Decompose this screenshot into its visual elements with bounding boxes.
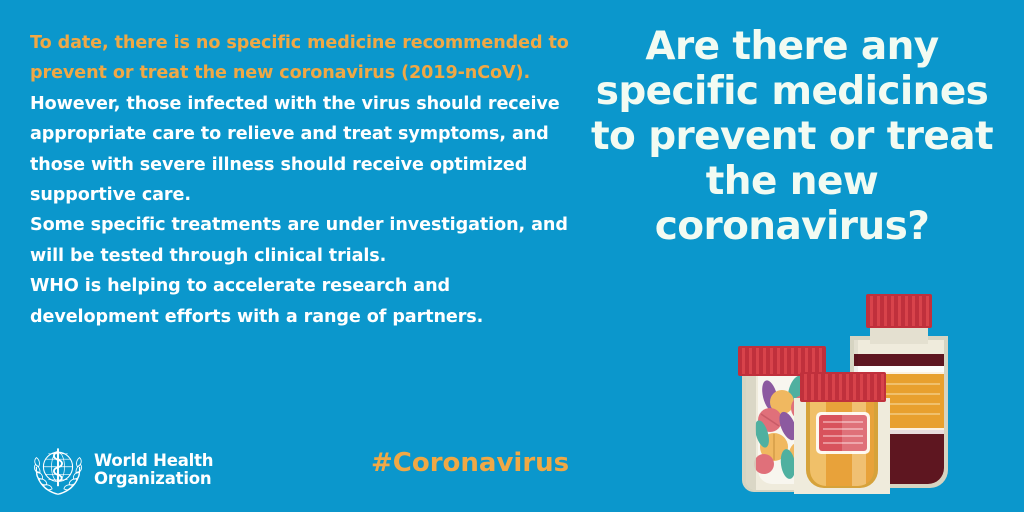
who-coronavirus-infographic: To date, there is no specific medicine r… (0, 0, 1024, 512)
body-text-column: To date, there is no specific medicine r… (30, 28, 570, 332)
who-wordmark: World Health Organization (94, 452, 213, 489)
paragraph-under-investigation: Some specific treatments are under inves… (30, 210, 570, 271)
wordmark-line-world-health: World Health (94, 452, 213, 471)
syrup-label (816, 412, 870, 454)
paragraph-appropriate-care: However, those infected with the virus s… (30, 89, 570, 211)
who-emblem-icon (31, 443, 85, 497)
wordmark-line-organization: Organization (94, 470, 213, 489)
who-logo: World Health Organization (31, 443, 213, 497)
paragraph-who-research: WHO is helping to accelerate research an… (30, 271, 570, 332)
hashtag-coronavirus: #Coronavirus (371, 448, 569, 478)
paragraph-no-specific-medicine: To date, there is no specific medicine r… (30, 28, 570, 89)
headline-question: Are there any specific medicines to prev… (576, 24, 1024, 249)
bottle-cap (738, 346, 826, 376)
bottle-cap (800, 372, 886, 402)
medicine-bottles-illustration (724, 292, 1024, 512)
syrup-bottle (794, 372, 890, 494)
bottle-cap (866, 294, 932, 328)
